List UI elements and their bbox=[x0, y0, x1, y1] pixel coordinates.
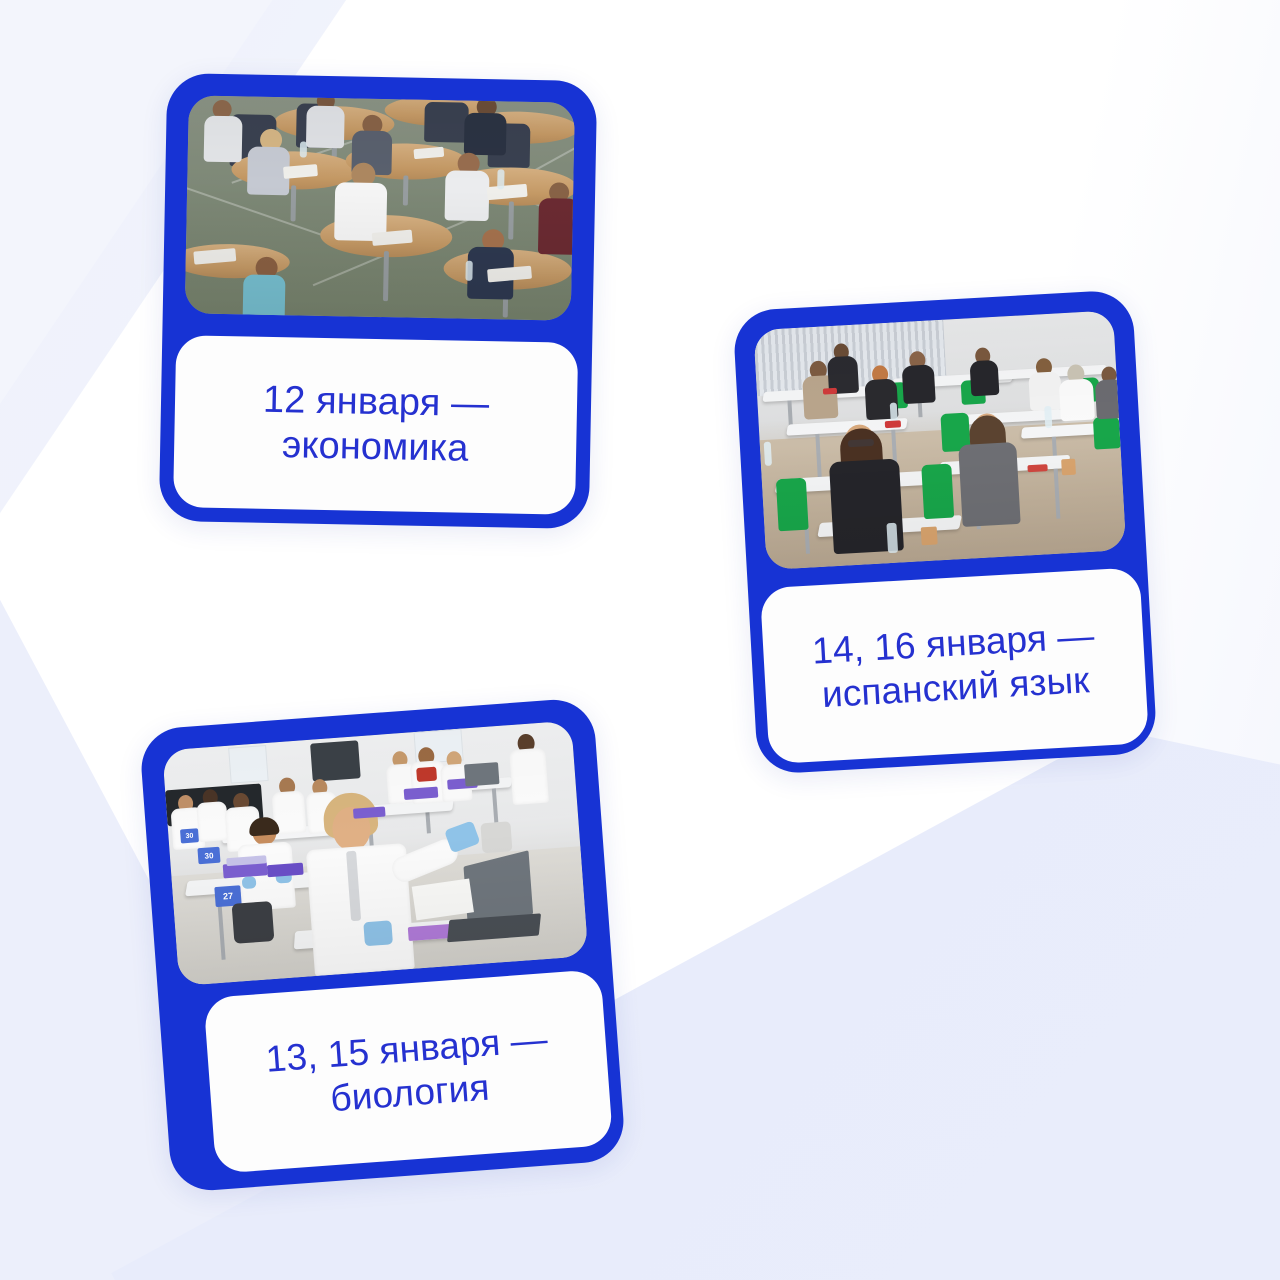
water-bottle bbox=[465, 261, 472, 281]
person bbox=[247, 128, 292, 195]
chair bbox=[424, 102, 469, 143]
student bbox=[901, 350, 936, 404]
person bbox=[445, 152, 492, 221]
person-body bbox=[1059, 379, 1095, 422]
person bbox=[464, 97, 509, 156]
person bbox=[467, 229, 516, 300]
paper-cup bbox=[1061, 459, 1076, 476]
placard-number: 30 bbox=[204, 851, 214, 861]
student bbox=[1094, 366, 1125, 419]
water-bottle bbox=[886, 523, 898, 554]
person-body bbox=[464, 113, 507, 156]
wall-monitor bbox=[310, 740, 361, 781]
green-chair bbox=[921, 464, 954, 520]
lab-coat bbox=[509, 748, 549, 805]
water-bottle bbox=[1044, 406, 1052, 428]
scene-exam-hall bbox=[185, 95, 575, 320]
lab-student bbox=[508, 733, 549, 805]
card-economics[interactable]: 12 января — экономика bbox=[159, 73, 598, 529]
student bbox=[826, 343, 859, 395]
table-leg bbox=[403, 175, 409, 205]
person bbox=[306, 95, 347, 148]
person bbox=[538, 182, 575, 255]
desk-placard-30: 30 bbox=[197, 847, 220, 865]
scene-biology-lab: 27 30 30 bbox=[162, 721, 588, 986]
water-bottle bbox=[497, 169, 504, 189]
label-spanish: 14, 16 января — испанский язык bbox=[760, 567, 1149, 764]
student bbox=[1058, 364, 1095, 422]
table-leg bbox=[291, 185, 297, 221]
scene-classroom bbox=[753, 310, 1126, 570]
poster-canvas: 12 января — экономика bbox=[0, 0, 1280, 1280]
person-body bbox=[902, 364, 936, 404]
desk-placard-30b: 30 bbox=[180, 828, 199, 843]
label-economics: 12 января — экономика bbox=[173, 335, 578, 515]
green-chair bbox=[776, 478, 809, 532]
blue-glove bbox=[363, 920, 393, 946]
person-body bbox=[204, 116, 243, 163]
photo-biology-lab: 27 30 30 bbox=[162, 721, 588, 986]
card-biology[interactable]: 27 30 30 13, 15 января — биология bbox=[139, 697, 627, 1193]
photo-exam-hall bbox=[185, 95, 575, 320]
paper-cup bbox=[921, 526, 938, 545]
person-body bbox=[306, 106, 345, 149]
student-foreground bbox=[954, 412, 1022, 527]
label-biology: 13, 15 января — биология bbox=[203, 969, 613, 1174]
pencil-case bbox=[1027, 464, 1047, 472]
label-text-spanish: 14, 16 января — испанский язык bbox=[801, 614, 1108, 718]
red-garment bbox=[416, 767, 437, 782]
person-body bbox=[243, 274, 286, 319]
green-chair bbox=[1093, 416, 1121, 449]
person-body bbox=[1028, 371, 1062, 411]
person-hair bbox=[248, 816, 279, 836]
water-bottle bbox=[764, 442, 772, 466]
pencil-case bbox=[823, 388, 837, 395]
placard-number: 30 bbox=[185, 832, 193, 840]
person-body bbox=[445, 170, 490, 221]
photo-classroom bbox=[753, 310, 1126, 570]
laptop-screen bbox=[464, 762, 500, 786]
lab-window bbox=[228, 745, 269, 784]
person bbox=[334, 162, 389, 241]
label-text-biology: 13, 15 января — биология bbox=[254, 1017, 562, 1126]
person-body bbox=[1095, 379, 1125, 420]
student bbox=[969, 347, 1000, 396]
eyeglasses bbox=[848, 439, 874, 447]
person bbox=[204, 100, 245, 163]
person-body bbox=[958, 442, 1020, 527]
blue-glove bbox=[242, 876, 257, 889]
lab-chair bbox=[480, 821, 512, 853]
lab-student-foreground bbox=[302, 790, 425, 976]
lab-chair bbox=[232, 901, 275, 944]
label-text-economics: 12 января — экономика bbox=[252, 378, 500, 472]
pencil-case bbox=[885, 420, 901, 428]
placard-number: 27 bbox=[223, 891, 234, 902]
table-leg bbox=[383, 251, 389, 301]
water-bottle bbox=[300, 141, 307, 157]
person-body bbox=[538, 198, 575, 255]
person-body bbox=[970, 360, 1000, 397]
card-spanish[interactable]: 14, 16 января — испанский язык bbox=[732, 289, 1157, 775]
person bbox=[243, 256, 288, 317]
